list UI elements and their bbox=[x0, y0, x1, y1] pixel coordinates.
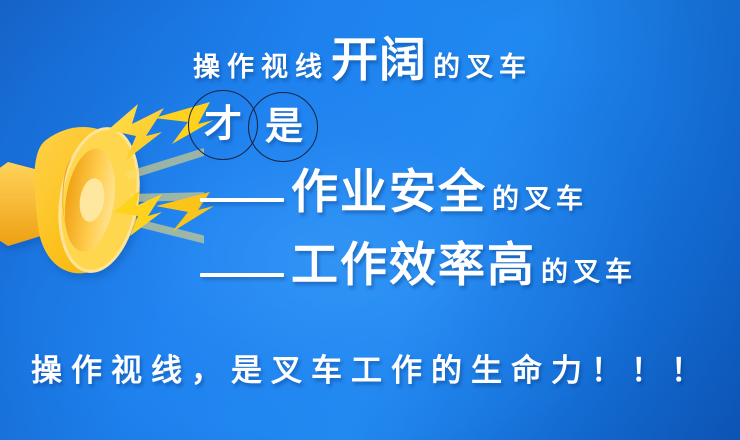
em-dash-rule-1 bbox=[200, 198, 284, 202]
line1-emphasis-text: 开阔 bbox=[331, 36, 427, 83]
headline-line-1: 操作视线 开阔 的叉车 bbox=[193, 36, 532, 83]
headline-block: 操作视线 开阔 的叉车 才 是 作业安全 的叉车 工作效率高 的叉车 操作视线，… bbox=[0, 0, 740, 440]
promo-banner: 操作视线 开阔 的叉车 才 是 作业安全 的叉车 工作效率高 的叉车 操作视线，… bbox=[0, 0, 740, 440]
em-dash-rule-2 bbox=[200, 273, 284, 277]
headline-line-4: 工作效率高 的叉车 bbox=[291, 241, 637, 288]
line4-emphasis-text: 工作效率高 bbox=[291, 241, 536, 288]
circled-char-2: 是 bbox=[265, 108, 303, 146]
bottom-slogan-text: 操作视线，是叉车工作的生命力！！！ bbox=[31, 355, 711, 386]
line3-tail-text: 的叉车 bbox=[492, 186, 588, 213]
line1-lead-text: 操作视线 bbox=[193, 54, 329, 81]
line1-tail-text: 的叉车 bbox=[433, 54, 532, 81]
line3-emphasis-text: 作业安全 bbox=[291, 168, 487, 215]
headline-line-3: 作业安全 的叉车 bbox=[291, 168, 588, 215]
line4-tail-text: 的叉车 bbox=[541, 259, 637, 286]
circled-char-1: 才 bbox=[204, 106, 242, 144]
